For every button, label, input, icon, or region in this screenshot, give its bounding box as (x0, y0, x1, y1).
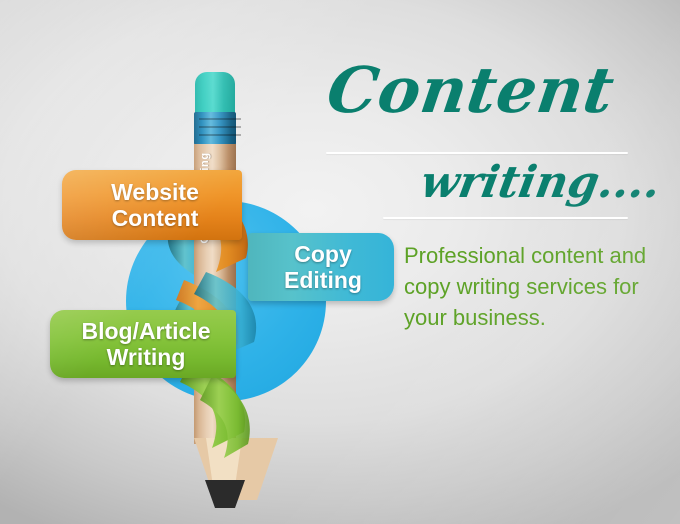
body-paragraph: Professional content and copy writing se… (404, 240, 656, 333)
pencil-lead-tip (205, 480, 245, 508)
poster-canvas: Content Writing Website Content Copy Edi… (0, 0, 680, 524)
banner-website-content[interactable]: Website Content (62, 170, 242, 240)
divider-rule-top (326, 152, 628, 154)
banner-website-content-text: Website Content (82, 179, 242, 231)
banner-line-1: Blog/Article (64, 318, 228, 344)
divider-rule-bottom (383, 217, 628, 219)
banner-line-1: Website (82, 179, 228, 205)
headline-line-2: writing.... (356, 160, 670, 206)
banner-copy-editing[interactable]: Copy Editing (248, 233, 394, 301)
banner-copy-editing-text: Copy Editing (258, 241, 394, 293)
banner-line-2: Writing (64, 344, 228, 370)
banner-line-2: Content (82, 205, 228, 231)
banner-blog-article-writing[interactable]: Blog/Article Writing (50, 310, 236, 378)
headline-line-1: Content (324, 58, 663, 122)
banner-line-2: Editing (258, 267, 388, 293)
banner-blog-article-writing-text: Blog/Article Writing (64, 318, 236, 370)
headline-primary: Content (328, 58, 658, 122)
green-ribbon-front-2 (200, 376, 250, 458)
banner-line-1: Copy (258, 241, 388, 267)
